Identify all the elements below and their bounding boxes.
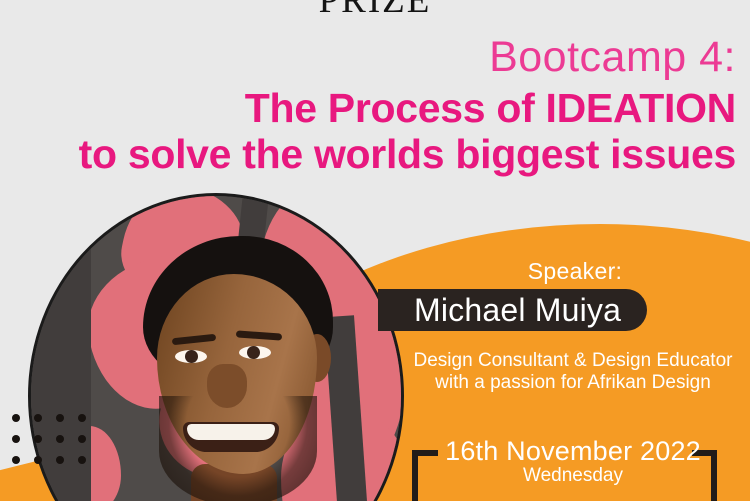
speaker-role-line1: Design Consultant & Design Educator <box>414 350 733 371</box>
teeth <box>187 424 275 440</box>
mouth <box>183 422 279 452</box>
speaker-name-badge: Michael Muiya <box>378 289 647 331</box>
dot-grid-icon <box>12 414 100 477</box>
pupil-left <box>185 350 198 363</box>
nose <box>207 364 247 408</box>
headline-subtopic: to solve the worlds biggest issues <box>79 134 736 175</box>
event-weekday: Wednesday <box>396 465 750 487</box>
event-poster: PRIZE Bootcamp 4: The Process of IDEATIO… <box>0 0 750 501</box>
pupil-right <box>247 346 260 359</box>
event-date: 16th November 2022 <box>396 436 750 467</box>
headline-block: Bootcamp 4: The Process of IDEATION to s… <box>79 36 736 175</box>
speaker-label: Speaker: <box>400 258 750 285</box>
speaker-role-line2: with a passion for Afrikan Design <box>435 372 711 393</box>
headline-bootcamp: Bootcamp 4: <box>79 36 736 79</box>
page-title: PRIZE <box>0 0 750 19</box>
headline-topic: The Process of IDEATION <box>79 88 736 129</box>
speaker-role: Design Consultant & Design Educator with… <box>396 350 750 395</box>
